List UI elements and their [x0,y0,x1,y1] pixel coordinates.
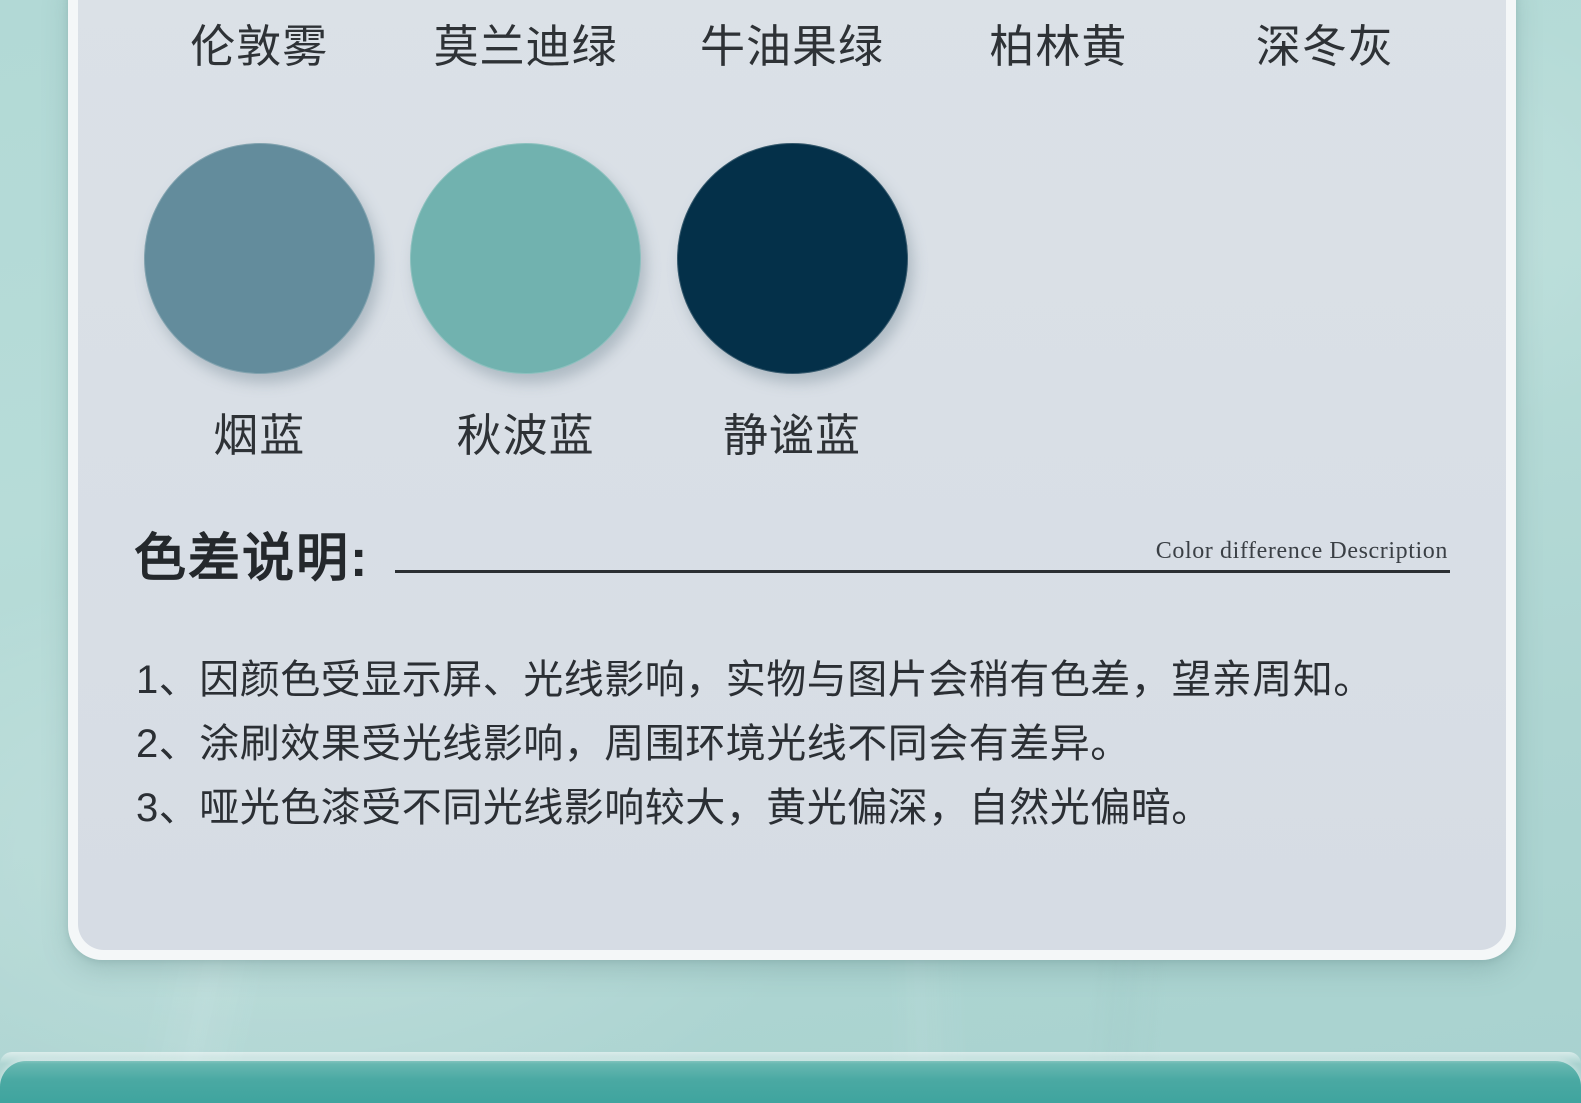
color-card: 伦敦雾 莫兰迪绿 牛油果绿 柏林黄 深冬灰 烟 [78,0,1506,950]
color-swatch-empty-4 [943,143,1174,374]
top-color-name-3: 牛油果绿 [659,24,925,69]
color-swatch-empty-5 [1209,143,1440,374]
color-swatch-cell-4 [925,143,1191,374]
bottom-color-name-3: 静谧蓝 [659,413,925,458]
heading-rule-wrap: Color difference Description [395,570,1450,587]
color-swatch-cell-5 [1192,143,1458,374]
note-item-2: 2、涂刷效果受光线影响，周围环境光线不同会有差异。 [136,712,1450,776]
top-color-name-5: 深冬灰 [1192,24,1458,69]
color-swatch-smoke-blue[interactable] [144,143,375,374]
bottom-color-name-2: 秋波蓝 [392,413,658,458]
bottom-color-name-4 [925,413,1191,458]
top-color-name-row: 伦敦雾 莫兰迪绿 牛油果绿 柏林黄 深冬灰 [78,24,1506,69]
color-swatch-cell-1 [126,143,392,374]
heading-divider [395,570,1450,573]
color-difference-heading: 色差说明: Color difference Description [134,533,1450,587]
top-color-name-2: 莫兰迪绿 [392,24,658,69]
top-color-name-1: 伦敦雾 [126,24,392,69]
note-item-1: 1、因颜色受显示屏、光线影响，实物与图片会稍有色差，望亲周知。 [136,648,1450,712]
note-item-3: 3、哑光色漆受不同光线影响较大，黄光偏深，自然光偏暗。 [136,776,1450,840]
color-difference-notes: 1、因颜色受显示屏、光线影响，实物与图片会稍有色差，望亲周知。 2、涂刷效果受光… [136,648,1450,840]
color-swatch-cell-2 [392,143,658,374]
color-card-frame: 伦敦雾 莫兰迪绿 牛油果绿 柏林黄 深冬灰 烟 [68,0,1516,960]
english-caption: Color difference Description [1156,538,1448,565]
color-swatch-cell-3 [659,143,925,374]
section-title: 色差说明: [134,533,369,587]
color-swatch-autumn-blue[interactable] [410,143,641,374]
color-swatch-tranquil-blue[interactable] [677,143,908,374]
bottom-color-name-1: 烟蓝 [126,413,392,458]
top-color-name-4: 柏林黄 [925,24,1191,69]
bottom-color-name-row: 烟蓝 秋波蓝 静谧蓝 [78,413,1506,458]
bottom-surface-band [0,1061,1581,1103]
bottom-color-name-5 [1192,413,1458,458]
color-swatch-row [78,143,1506,374]
